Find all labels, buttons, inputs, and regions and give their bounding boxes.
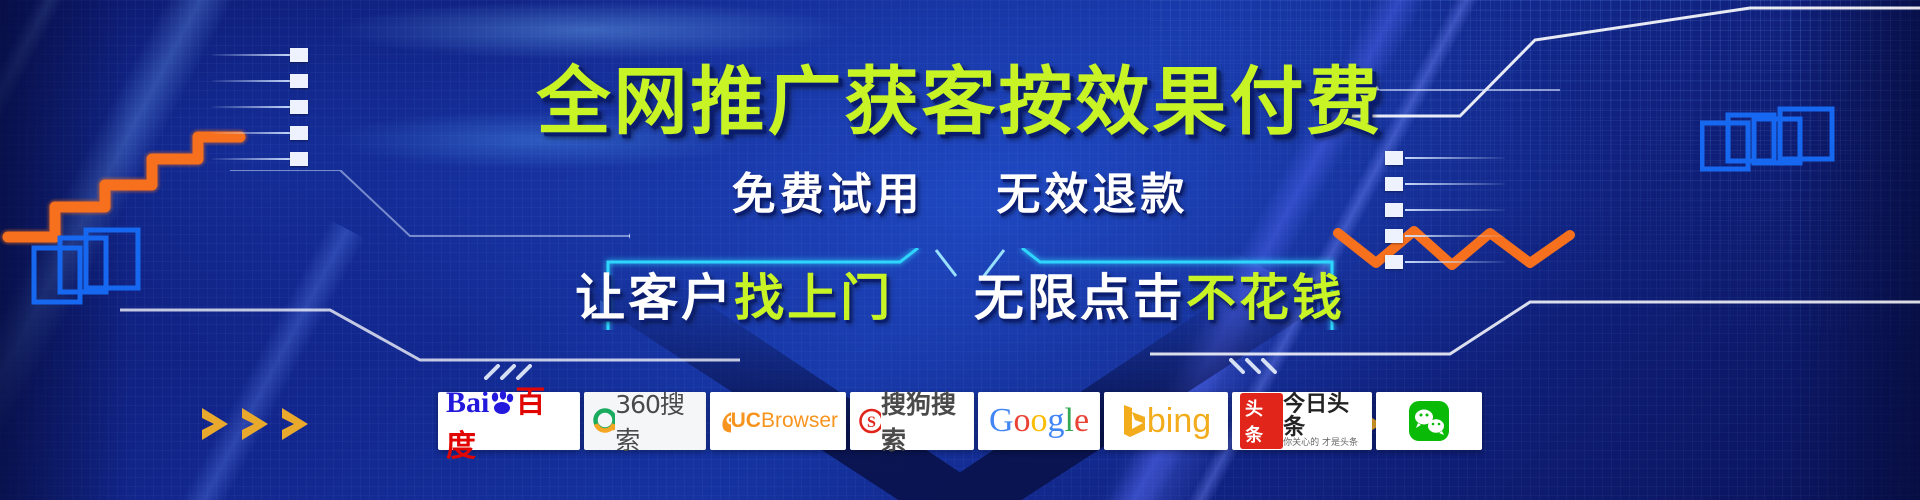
svg-text:S: S — [867, 414, 876, 431]
logo-toutiao[interactable]: 头条 今日头条 你关心的 才是头条 — [1232, 392, 1372, 450]
partner-logo-strip: Bai 百度 360搜索 UCBrowser — [0, 392, 1920, 450]
uc-squirrel-icon — [718, 406, 731, 436]
logo-google-text: Google — [989, 402, 1089, 440]
logo-bing-text: bing — [1147, 402, 1211, 441]
logo-google[interactable]: Google — [978, 392, 1100, 450]
wechat-icon — [1406, 398, 1452, 444]
logo-uc-text: UCBrowser — [731, 409, 838, 433]
page-title: 全网推广获客按效果付费 — [0, 42, 1920, 149]
tagline: 让客户找上门 无限点击不花钱 — [0, 258, 1920, 330]
logo-baidu-text: Bai 百度 — [446, 377, 572, 465]
logo-bing[interactable]: bing — [1104, 392, 1228, 450]
tagline-highlight-1: 找上门 — [734, 269, 893, 327]
tagline-part-1: 让客户 — [575, 269, 734, 327]
bing-logo-icon — [1121, 403, 1147, 439]
logo-uc-browser[interactable]: UCBrowser — [710, 392, 846, 450]
tagline-part-2: 无限点击 — [974, 269, 1186, 327]
subtitle: 免费试用 无效退款 — [0, 158, 1920, 222]
sogou-s-icon: S — [858, 408, 881, 435]
logo-toutiao-text: 今日头条 你关心的 才是头条 — [1283, 393, 1364, 449]
dash-decor-right — [1225, 350, 1285, 390]
logo-toutiao-badge: 头条 — [1240, 393, 1283, 449]
logo-sogou-search[interactable]: S 搜狗搜索 — [850, 392, 974, 450]
logo-sogou-text: 搜狗搜索 — [881, 385, 966, 457]
promo-banner: 全网推广获客按效果付费 免费试用 无效退款 让客户找上门 无限点击不花钱 Bai… — [0, 0, 1920, 500]
logo-baidu[interactable]: Bai 百度 — [438, 392, 580, 450]
logo-360-text: 360搜索 — [615, 385, 698, 457]
subtitle-part-1: 免费试用 — [732, 169, 924, 220]
360-circle-icon — [592, 408, 615, 434]
subtitle-part-2: 无效退款 — [996, 169, 1188, 220]
logo-360-search[interactable]: 360搜索 — [584, 392, 706, 450]
logo-wechat[interactable] — [1376, 392, 1482, 450]
tagline-highlight-2: 不花钱 — [1186, 269, 1345, 327]
baidu-paw-icon — [489, 390, 515, 416]
